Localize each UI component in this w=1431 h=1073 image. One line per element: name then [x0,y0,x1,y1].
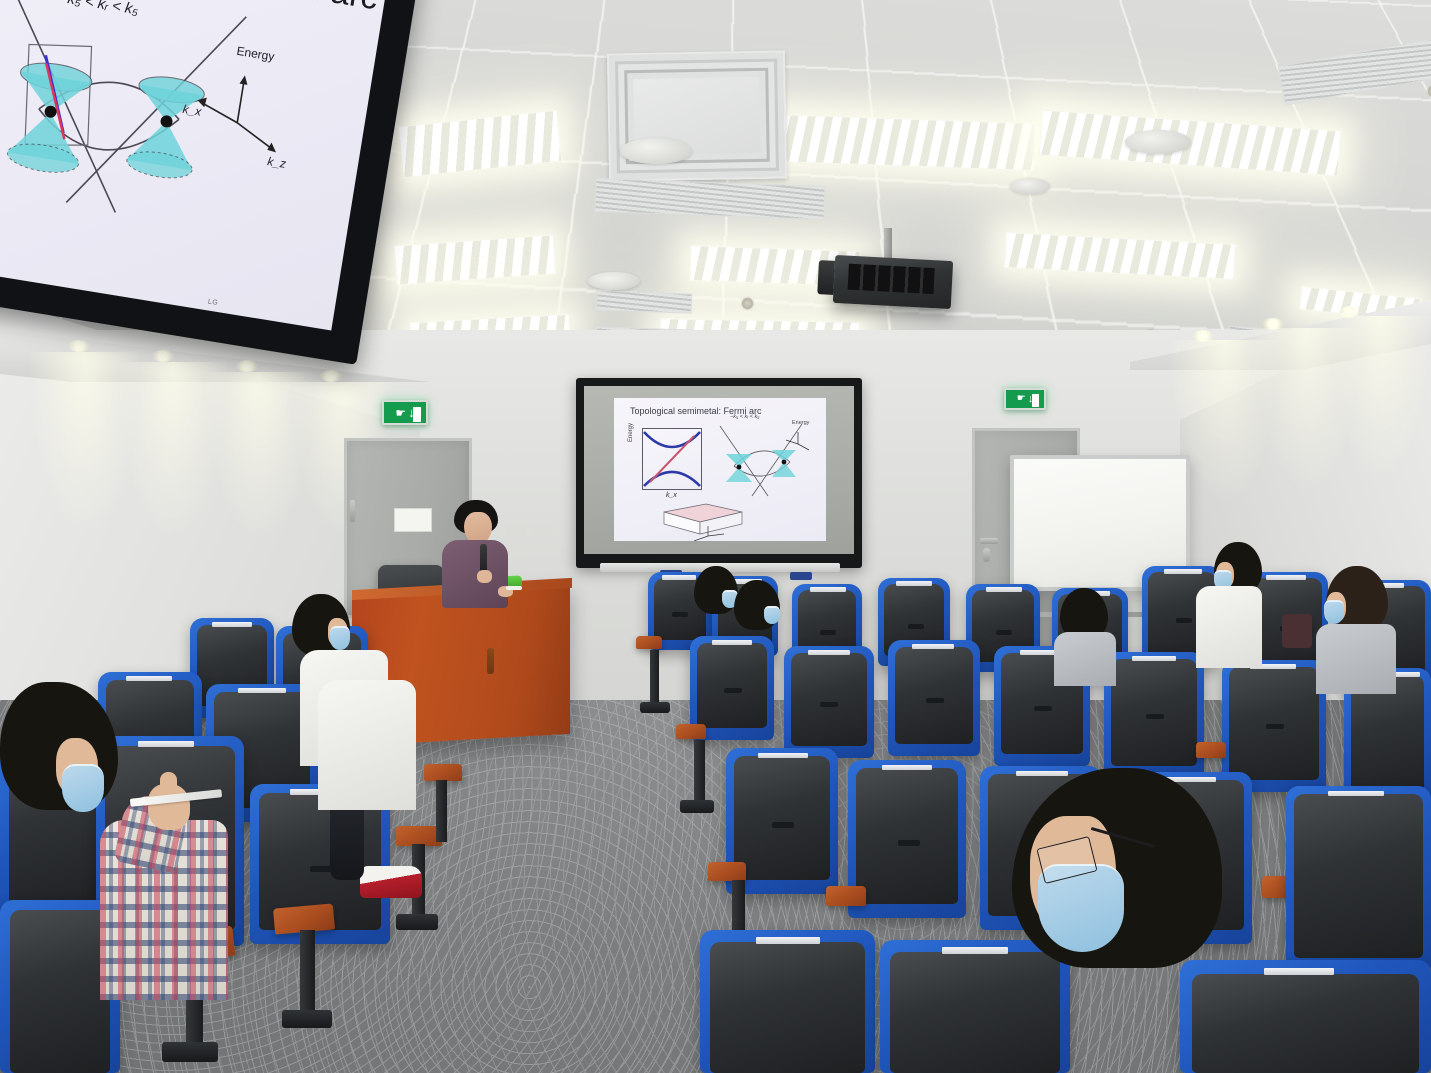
seat-foot [282,1010,332,1028]
seat-armrest [676,724,706,739]
projector-lens [848,264,935,294]
seat[interactable] [888,640,980,756]
door-handle-right[interactable] [980,538,998,544]
attendee-torso [1196,586,1262,668]
ceiling-projector [833,255,953,309]
seat[interactable] [1286,786,1431,972]
exit-sign-right: ☛ ↓ [1004,388,1046,410]
downlight [320,370,342,382]
seat-foot [640,702,670,713]
projector-mount-pole [884,228,892,260]
wall-light-wash [1330,316,1431,476]
projected-weyl-diagram [714,422,810,502]
attendee-torso [1316,624,1396,694]
lectern-lock [487,648,494,674]
seat-leg [650,650,659,706]
attendee-head [1012,768,1222,968]
seat-leg [694,740,705,806]
seat-armrest [1196,742,1226,758]
seat-foot [680,800,714,813]
ceiling-air-diffuser [607,50,787,181]
attendee-torso [1054,632,1116,686]
projected-condition: −k₅ < kᵣ < k₅ [730,414,759,420]
seat[interactable] [700,930,875,1073]
projected-slab-diagram [658,498,748,538]
lecture-hall-photo: Topological semimetal: Fermi arc k_x [0,0,1431,1073]
face-mask [330,626,350,650]
seat-foot [162,1042,218,1062]
attendee-head [0,682,118,810]
exit-door-bar-icon [413,407,421,422]
ceiling-speaker [620,138,692,164]
ceiling-speaker [588,272,640,290]
seat-armrest [708,862,746,881]
red-sneaker [360,866,422,898]
tv-screen: Topological semimetal: Fermi arc k_x [0,0,389,330]
axis-label-kz: k_z [266,154,287,171]
face-mask [1324,600,1344,624]
face-mask [764,606,780,624]
attendee-legs [330,800,364,880]
seat[interactable] [1180,960,1431,1073]
seat[interactable] [1104,652,1204,778]
seat-armrest [636,636,662,649]
attendee-torso [318,680,416,810]
seat[interactable] [784,646,874,758]
presenter [440,500,518,605]
screen-clip [790,572,812,580]
attendee-head [292,594,350,656]
presenter-torso [442,540,508,608]
exit-door-bar-icon [1032,394,1039,407]
sprinkler-head [742,298,753,309]
seat-armrest [826,886,866,906]
projected-ylabel: Energy [628,423,634,442]
projected-band-curves [642,428,702,490]
attendee-head [694,566,738,614]
projected-energy-label: Energy [792,420,809,426]
projected-slide: Topological semimetal: Fermi arc Energy … [614,398,826,541]
attendee-head [1326,566,1388,632]
attendee-head [734,580,780,630]
ceiling-linear-grille [596,290,693,313]
downlight [152,350,174,362]
downlight [68,340,90,352]
seat-armrest [424,764,462,781]
seat-leg [300,930,315,1018]
exit-sign-left: ☛ ↓ [382,400,428,425]
exit-running-person-icon: ☛ [1017,394,1026,404]
presenter-pointer [506,586,522,590]
door-handle-left[interactable] [350,500,355,522]
projection-screen: Topological semimetal: Fermi arc Energy … [576,378,862,568]
ceiling-light-troffer [744,113,1035,171]
projector-cables [817,260,835,295]
projection-surface: Topological semimetal: Fermi arc Energy … [584,386,854,554]
downlight [236,360,258,372]
door-lock-right[interactable] [983,548,990,562]
door-notice-left [394,508,432,532]
axis-label-kx: k_x [182,102,203,119]
presenter-hand [477,570,492,583]
seat-backrest-far [1282,614,1312,648]
ceiling-speaker [1125,130,1191,154]
axis-triad [187,51,313,177]
tv-brand-logo: LG [207,298,218,307]
face-mask [62,764,104,812]
ceiling-speaker [1010,178,1050,194]
seat-leg [436,780,447,842]
exit-running-person-icon: ☛ [395,407,406,419]
seat-foot [396,914,438,930]
wall-mounted-tv[interactable]: Topological semimetal: Fermi arc k_x [0,0,420,365]
